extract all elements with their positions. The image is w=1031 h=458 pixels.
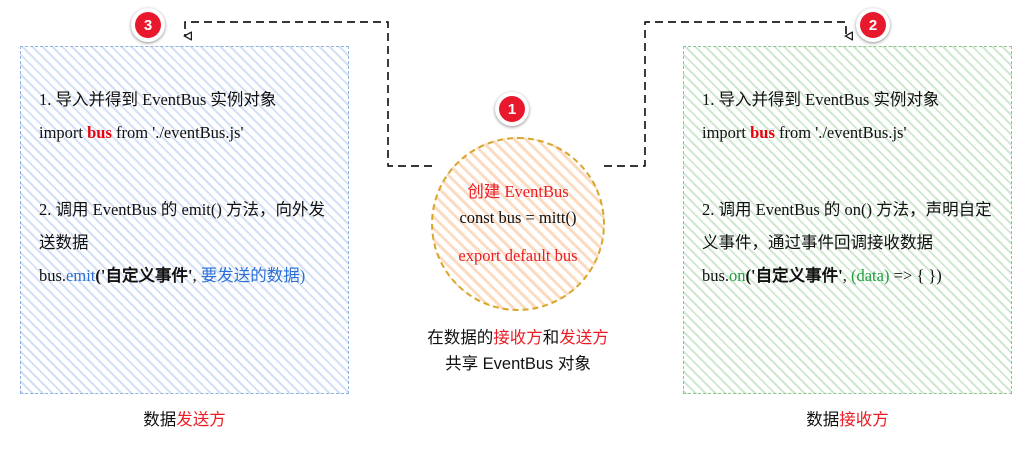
receiver-step-spacer xyxy=(702,149,999,193)
circle-title: 创建 EventBus xyxy=(467,179,568,205)
center-caption: 在数据的接收方和发送方 共享 EventBus 对象 xyxy=(388,325,648,377)
sender-module-path: './eventBus.js' xyxy=(152,123,243,142)
receiver-event-name: '自定义事件' xyxy=(751,266,843,285)
step-badge-2-number: 2 xyxy=(860,12,886,38)
receiver-bus-identifier: bus xyxy=(750,123,775,142)
caption-prefix: 在数据的 xyxy=(427,329,493,347)
receiver-step1-heading: 1. 导入并得到 EventBus 实例对象 xyxy=(702,83,999,116)
receiver-step2-code: bus.on('自定义事件', (data) => { }) xyxy=(702,259,999,292)
receiver-bottom-label: 数据接收方 xyxy=(683,408,1012,432)
step-badge-2: 2 xyxy=(856,8,890,42)
step-badge-1: 1 xyxy=(495,92,529,126)
receiver-on-method: on xyxy=(729,266,746,285)
sender-close-paren: ) xyxy=(300,266,306,285)
center-caption-line1: 在数据的接收方和发送方 xyxy=(388,325,648,351)
step-badge-3: 3 xyxy=(131,8,165,42)
sender-payload-arg: 要发送的数据 xyxy=(201,266,300,285)
sender-step2-code: bus.emit('自定义事件', 要发送的数据) xyxy=(39,259,336,292)
receiver-arrow-body: => { }) xyxy=(889,266,941,285)
receiver-step2-heading: 2. 调用 EventBus 的 on() 方法，声明自定义事件，通过事件回调接… xyxy=(702,193,999,259)
sender-step1-code: import bus from './eventBus.js' xyxy=(39,116,336,149)
receiver-module-path: './eventBus.js' xyxy=(815,123,906,142)
center-caption-line2: 共享 EventBus 对象 xyxy=(388,351,648,377)
receiver-label-accent: 接收方 xyxy=(839,411,889,429)
caption-conjunction: 和 xyxy=(543,329,560,347)
receiver-bus-object: bus. xyxy=(702,266,729,285)
receiver-panel-body: 1. 导入并得到 EventBus 实例对象 import bus from '… xyxy=(702,83,999,292)
receiver-panel: 1. 导入并得到 EventBus 实例对象 import bus from '… xyxy=(683,46,1012,394)
sender-from-keyword: from xyxy=(116,123,148,142)
sender-step2-heading: 2. 调用 EventBus 的 emit() 方法，向外发送数据 xyxy=(39,193,336,259)
sender-bus-identifier: bus xyxy=(87,123,112,142)
sender-step1-heading: 1. 导入并得到 EventBus 实例对象 xyxy=(39,83,336,116)
sender-panel: 1. 导入并得到 EventBus 实例对象 import bus from '… xyxy=(20,46,349,394)
sender-label-accent: 发送方 xyxy=(176,411,226,429)
sender-label-prefix: 数据 xyxy=(143,411,176,429)
diagram-canvas: 1. 导入并得到 EventBus 实例对象 import bus from '… xyxy=(0,0,1031,458)
step-badge-1-number: 1 xyxy=(499,96,525,122)
sender-panel-body: 1. 导入并得到 EventBus 实例对象 import bus from '… xyxy=(39,83,336,292)
sender-event-name: '自定义事件' xyxy=(101,266,193,285)
sender-import-keyword: import xyxy=(39,123,83,142)
eventbus-circle: 创建 EventBus const bus = mitt() export de… xyxy=(431,137,605,311)
step-badge-3-number: 3 xyxy=(135,12,161,38)
sender-emit-method: emit xyxy=(66,266,95,285)
receiver-from-keyword: from xyxy=(779,123,811,142)
receiver-callback-param: (data) xyxy=(851,266,889,285)
sender-step-spacer xyxy=(39,149,336,193)
receiver-arg-comma: , xyxy=(843,266,851,285)
circle-export-line: export default bus xyxy=(458,243,577,269)
caption-receiver-accent: 接收方 xyxy=(493,329,543,347)
circle-const-line: const bus = mitt() xyxy=(459,205,576,231)
sender-bottom-label: 数据发送方 xyxy=(20,408,349,432)
sender-arg-comma: , xyxy=(193,266,201,285)
sender-bus-object: bus. xyxy=(39,266,66,285)
receiver-step1-code: import bus from './eventBus.js' xyxy=(702,116,999,149)
caption-sender-accent: 发送方 xyxy=(559,329,609,347)
receiver-import-keyword: import xyxy=(702,123,746,142)
receiver-label-prefix: 数据 xyxy=(806,411,839,429)
